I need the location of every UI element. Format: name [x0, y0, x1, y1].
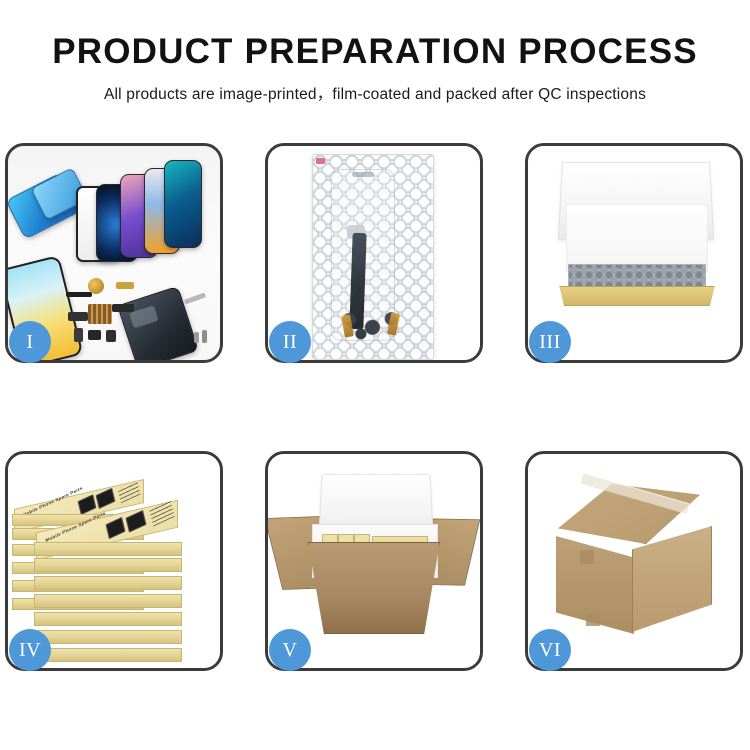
- box-screen-icon-3: [105, 517, 125, 539]
- kraft-box-front-5: [34, 612, 182, 626]
- box-screen-icon-4: [125, 510, 146, 533]
- kraft-box-front-2: [34, 558, 182, 572]
- speaker-part: [88, 278, 104, 294]
- step-badge-4-label: IV: [19, 639, 41, 662]
- step-badge-1: I: [9, 321, 51, 363]
- bubble-wrap-bag: [312, 154, 434, 360]
- step-badge-4: IV: [9, 629, 51, 671]
- step-badge-2: II: [269, 321, 311, 363]
- kraft-box-front-3: [34, 576, 182, 590]
- gold-connector-part: [116, 282, 134, 289]
- kraft-box-front-7: [34, 648, 182, 662]
- yellow-box-front-edge: [556, 286, 718, 306]
- box-screen-icon-1: [78, 494, 97, 515]
- white-foam-sheet: [566, 204, 708, 272]
- qc-red-sticker: [316, 158, 325, 164]
- box-label-back: Mobile Phone Spare Parts: [22, 485, 83, 517]
- step-badge-5: V: [269, 629, 311, 671]
- carton-flap-tab-bottom: [586, 614, 600, 626]
- shipping-carton-open: [308, 542, 440, 634]
- process-row-2: Mobile Phone Spare Parts Mobile Phone Sp…: [0, 444, 750, 689]
- kraft-box-front-4: [34, 594, 182, 608]
- flex-cable-part: [66, 292, 92, 297]
- box-spec-lines-2: [149, 500, 174, 527]
- camera-module-part: [88, 330, 101, 340]
- step-badge-1-label: I: [26, 331, 33, 354]
- step-badge-5-label: V: [283, 639, 298, 662]
- screen-notch: [352, 172, 374, 177]
- box-spec-lines-1: [117, 480, 140, 504]
- tweezers-tool: [184, 292, 206, 304]
- phone-back-housing: [117, 286, 199, 360]
- page-subtitle: All products are image-printed，film-coat…: [0, 82, 750, 104]
- screw-part-2: [202, 330, 207, 343]
- header: PRODUCT PREPARATION PROCESS All products…: [0, 0, 750, 104]
- phone-display-teal: [164, 160, 202, 248]
- page-title: PRODUCT PREPARATION PROCESS: [0, 34, 750, 71]
- box-screen-icon-2: [96, 488, 116, 509]
- carton-flap-tab-top: [580, 550, 594, 564]
- vibrator-part: [106, 330, 116, 342]
- kraft-box-front-6: [34, 630, 182, 644]
- process-row-1: I II: [0, 136, 750, 381]
- step-badge-3-label: III: [539, 331, 560, 354]
- screw-part-1: [194, 332, 199, 343]
- process-grid: I II: [0, 136, 750, 689]
- button-flex-part: [68, 312, 88, 321]
- ic-chip-grid: [88, 304, 112, 324]
- step-badge-6-label: VI: [539, 639, 561, 662]
- step-badge-3: III: [529, 321, 571, 363]
- small-flex-part: [112, 304, 134, 312]
- kraft-box-front-1: [34, 542, 182, 556]
- step-badge-6: VI: [529, 629, 571, 671]
- step-badge-2-label: II: [283, 331, 297, 354]
- sim-tray-part: [74, 328, 83, 342]
